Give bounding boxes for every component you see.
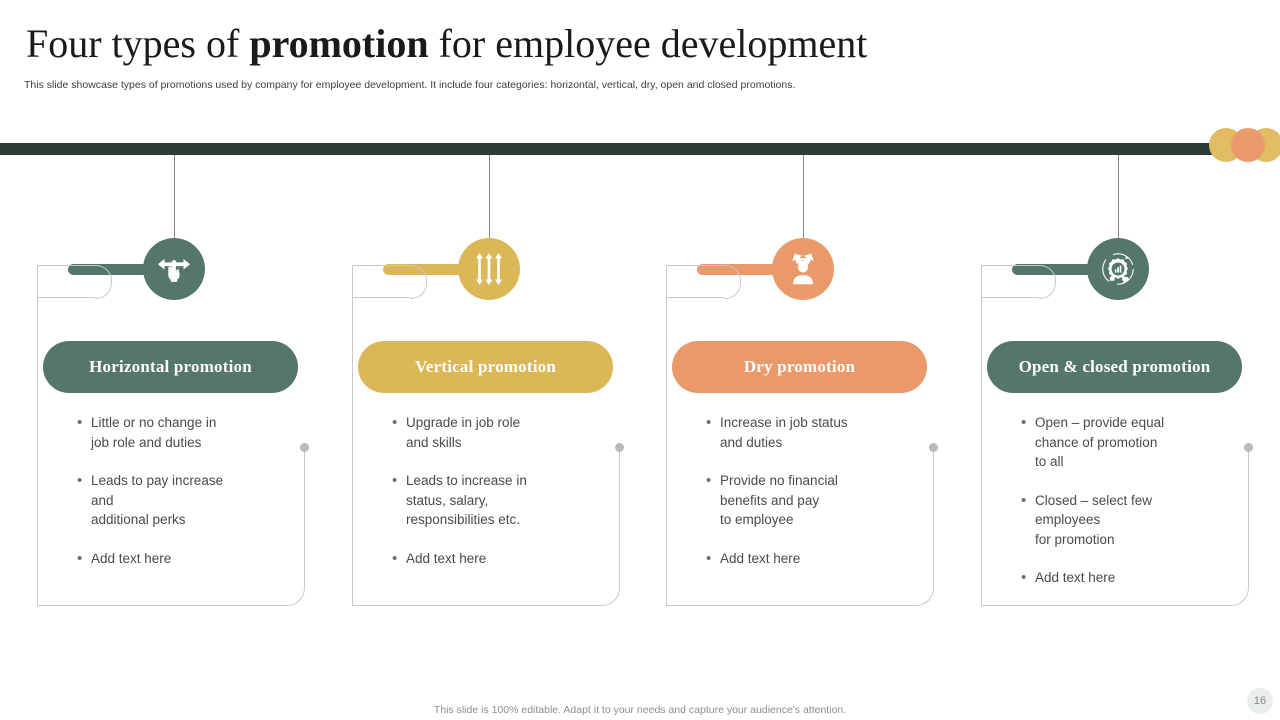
bullet-marker-icon: •	[392, 549, 406, 569]
card-left-edge	[352, 297, 353, 605]
bullet-text: Closed – select few employees for promot…	[1035, 491, 1152, 550]
bullet-marker-icon: •	[392, 413, 406, 452]
icon-bubble	[458, 238, 520, 300]
bullet-text: Increase in job status and duties	[720, 413, 848, 452]
bullet-text: Leads to increase in status, salary, res…	[406, 471, 527, 530]
card-title-pill[interactable]: Vertical promotion	[358, 341, 613, 393]
bullet-text: Add text here	[720, 549, 800, 569]
card-right-edge	[933, 448, 934, 571]
card-left-edge	[666, 297, 667, 605]
bullet-item: •Closed – select few employees for promo…	[1021, 491, 1233, 550]
bullet-item: •Add text here	[706, 549, 918, 569]
icon-bubble	[772, 238, 834, 300]
card-title-text: Open & closed promotion	[1019, 357, 1211, 377]
card-bottom-edge	[666, 605, 899, 606]
card-notch-top-edge	[352, 265, 410, 266]
page-number: 16	[1247, 688, 1273, 714]
card-bullet-list: •Open – provide equal chance of promotio…	[1021, 413, 1233, 607]
bullet-item: •Upgrade in job role and skills	[392, 413, 604, 452]
bullet-marker-icon: •	[392, 471, 406, 530]
bullet-marker-icon: •	[1021, 413, 1035, 472]
bullet-item: •Add text here	[1021, 568, 1233, 588]
card-title-text: Vertical promotion	[415, 357, 556, 377]
card-edge-dot	[300, 443, 309, 452]
footer-note: This slide is 100% editable. Adapt it to…	[0, 704, 1280, 716]
bullet-item: •Add text here	[392, 549, 604, 569]
bullet-text: Add text here	[1035, 568, 1115, 588]
person-up-arrows-icon	[784, 250, 822, 288]
bullet-text: Provide no financial benefits and pay to…	[720, 471, 838, 530]
card-bottom-edge	[352, 605, 585, 606]
rail-decor-dot-2	[1231, 128, 1265, 162]
card-notch-bottom-edge	[352, 297, 410, 298]
card-right-edge	[304, 448, 305, 571]
card-title-text: Dry promotion	[744, 357, 855, 377]
gear-chart-orbit-icon	[1099, 250, 1137, 288]
vertical-arrows-icon	[470, 250, 508, 288]
promotion-column-4: Open & closed promotion •Open – provide …	[0, 0, 300, 720]
bullet-marker-icon: •	[706, 413, 720, 452]
card-notch-top-edge	[981, 265, 1039, 266]
bullet-text: Open – provide equal chance of promotion…	[1035, 413, 1164, 472]
bullet-text: Add text here	[406, 549, 486, 569]
card-edge-dot	[929, 443, 938, 452]
title-part-post: for employee development	[429, 21, 868, 66]
card-title-pill[interactable]: Dry promotion	[672, 341, 927, 393]
card-right-edge	[619, 448, 620, 571]
slide-root: Four types of promotion for employee dev…	[0, 0, 1280, 720]
icon-bubble	[1087, 238, 1149, 300]
card-bullet-list: •Upgrade in job role and skills•Leads to…	[392, 413, 604, 587]
card-left-edge	[981, 297, 982, 605]
bullet-marker-icon: •	[706, 471, 720, 530]
card-notch-left-edge	[666, 265, 667, 297]
card-edge-dot	[1244, 443, 1253, 452]
card-edge-dot	[615, 443, 624, 452]
card-right-edge	[1248, 448, 1249, 571]
card-title-pill[interactable]: Open & closed promotion	[987, 341, 1242, 393]
bullet-marker-icon: •	[706, 549, 720, 569]
card-notch-left-edge	[352, 265, 353, 297]
card-notch-left-edge	[981, 265, 982, 297]
card-notch-bottom-edge	[981, 297, 1039, 298]
bullet-text: Upgrade in job role and skills	[406, 413, 520, 452]
bullet-item: •Provide no financial benefits and pay t…	[706, 471, 918, 530]
bullet-marker-icon: •	[1021, 568, 1035, 588]
card-notch-top-edge	[666, 265, 724, 266]
card-notch-bottom-edge	[666, 297, 724, 298]
bullet-item: •Increase in job status and duties	[706, 413, 918, 452]
bullet-marker-icon: •	[1021, 491, 1035, 550]
bullet-item: •Open – provide equal chance of promotio…	[1021, 413, 1233, 472]
card-bullet-list: •Increase in job status and duties•Provi…	[706, 413, 918, 587]
bullet-item: •Leads to increase in status, salary, re…	[392, 471, 604, 530]
